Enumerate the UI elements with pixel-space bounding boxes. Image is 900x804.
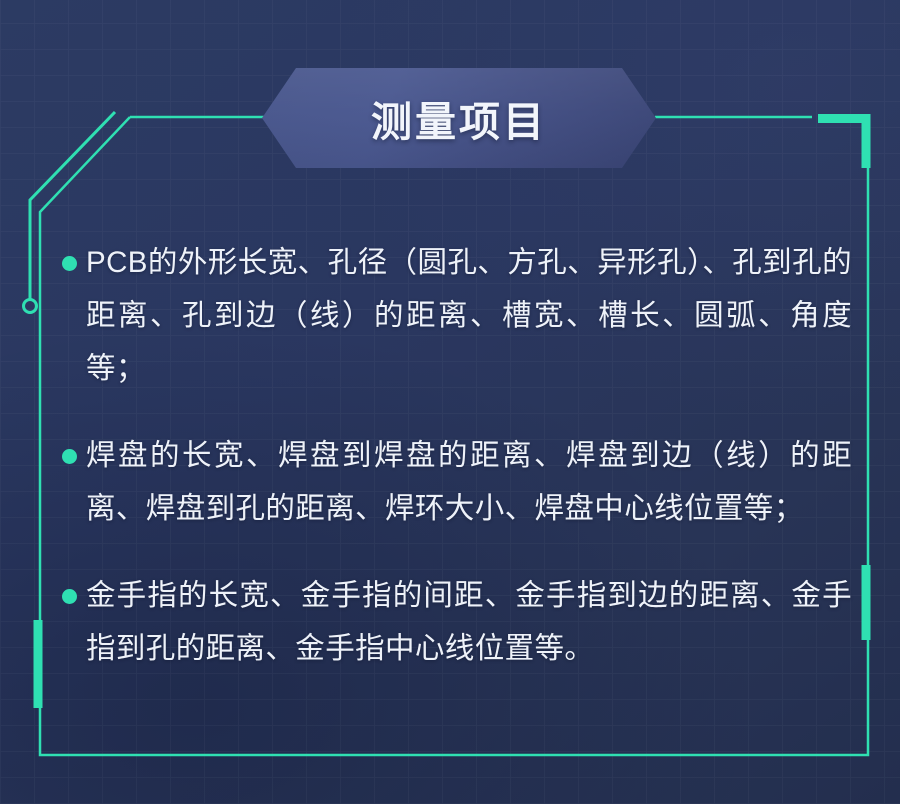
list-item: 金手指的长宽、金手指的间距、金手指到边的距离、金手指到孔的距离、金手指中心线位置…: [62, 569, 852, 675]
list-item-text: 金手指的长宽、金手指的间距、金手指到边的距离、金手指到孔的距离、金手指中心线位置…: [86, 569, 852, 675]
bullet-dot-icon: [62, 256, 77, 271]
frame-accent-top-right: [818, 119, 866, 169]
slide-root: 测量项目 PCB的外形长宽、孔径（圆孔、方孔、异形孔）、孔到孔的距离、孔到边（线…: [0, 0, 900, 804]
bullet-dot-icon: [62, 449, 77, 464]
circuit-via-icon: [24, 300, 37, 313]
measurement-items-list: PCB的外形长宽、孔径（圆孔、方孔、异形孔）、孔到孔的距离、孔到边（线）的距离、…: [62, 236, 852, 675]
list-item-text: 焊盘的长宽、焊盘到焊盘的距离、焊盘到边（线）的距离、焊盘到孔的距离、焊环大小、焊…: [86, 429, 852, 535]
bullet-dot-icon: [62, 589, 77, 604]
page-title: 测量项目: [262, 68, 656, 168]
list-item-text: PCB的外形长宽、孔径（圆孔、方孔、异形孔）、孔到孔的距离、孔到边（线）的距离、…: [86, 236, 852, 395]
list-item: PCB的外形长宽、孔径（圆孔、方孔、异形孔）、孔到孔的距离、孔到边（线）的距离、…: [62, 236, 852, 395]
list-item: 焊盘的长宽、焊盘到焊盘的距离、焊盘到边（线）的距离、焊盘到孔的距离、焊环大小、焊…: [62, 429, 852, 535]
title-banner: 测量项目: [262, 68, 656, 168]
